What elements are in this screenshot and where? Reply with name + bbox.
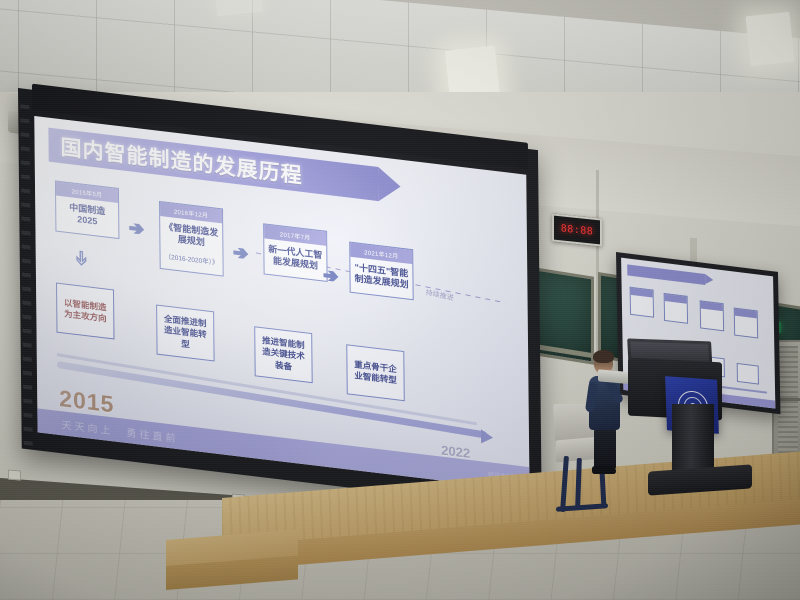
projection-screen: 国内智能制造的发展历程 持续推进 2015年5月 中国制造2025 ➔ 2016…	[18, 88, 542, 511]
presenter-legs	[594, 428, 616, 470]
measure-node: 全面推进制造业智能转型	[156, 304, 215, 361]
timeline-node: 2016年12月 《智能制造发展规划 （2016-2020年）》	[159, 201, 224, 276]
flow-arrow-down-icon: ➔	[71, 249, 92, 267]
title-banner-arrow	[378, 167, 400, 204]
flow-arrow-icon: ➔	[323, 266, 337, 285]
timeline-node-text: 中国制造2025	[56, 196, 118, 238]
timeline-arrow-head	[481, 429, 493, 444]
secondary-measure-node	[737, 363, 759, 385]
secondary-timeline-node	[700, 300, 724, 331]
slide-content: 国内智能制造的发展历程 持续推进 2015年5月 中国制造2025 ➔ 2016…	[34, 116, 529, 491]
secondary-slide-title-banner	[627, 264, 705, 285]
timeline-node-text: "十四五"智能制造发展规划	[350, 257, 412, 299]
timeline-node-text: 《智能制造发展规划	[160, 216, 222, 258]
secondary-title-arrow	[705, 274, 713, 285]
lecture-hall-photo: 88:88 国内智能制造的发展历程 持续推进 2015年5月 中国制造2025 …	[0, 0, 800, 600]
timeline-node-text: 新一代人工智能发展规划	[264, 238, 326, 280]
secondary-timeline-node	[664, 293, 688, 324]
secondary-timeline-node	[630, 287, 654, 318]
ceiling-light-panel	[746, 12, 795, 66]
presenter-shoes	[592, 466, 616, 474]
flow-arrow-icon: ➔	[129, 219, 143, 238]
measure-node: 以智能制造为主攻方向	[56, 283, 115, 340]
timeline-node: 2017年7月 新一代人工智能发展规划	[263, 223, 328, 281]
screen-edge-tabs	[20, 94, 33, 448]
measure-node: 重点骨干企业智能转型	[346, 344, 405, 401]
measure-node: 推进智能制造关键技术装备	[254, 326, 313, 383]
presenter-hair	[593, 350, 614, 363]
led-clock: 88:88	[552, 213, 602, 246]
led-clock-digits: 88:88	[557, 219, 597, 241]
dotted-connector-label: 持续推进	[425, 288, 454, 304]
wall-socket	[8, 470, 21, 481]
slide-footer-text: 天天向上 勇往直前	[61, 416, 178, 445]
timeline-node: 2015年5月 中国制造2025	[55, 180, 120, 238]
timeline-node: 2021年12月 "十四五"智能制造发展规划	[349, 242, 414, 300]
secondary-timeline-node	[734, 307, 758, 338]
flow-arrow-icon: ➔	[233, 244, 247, 263]
